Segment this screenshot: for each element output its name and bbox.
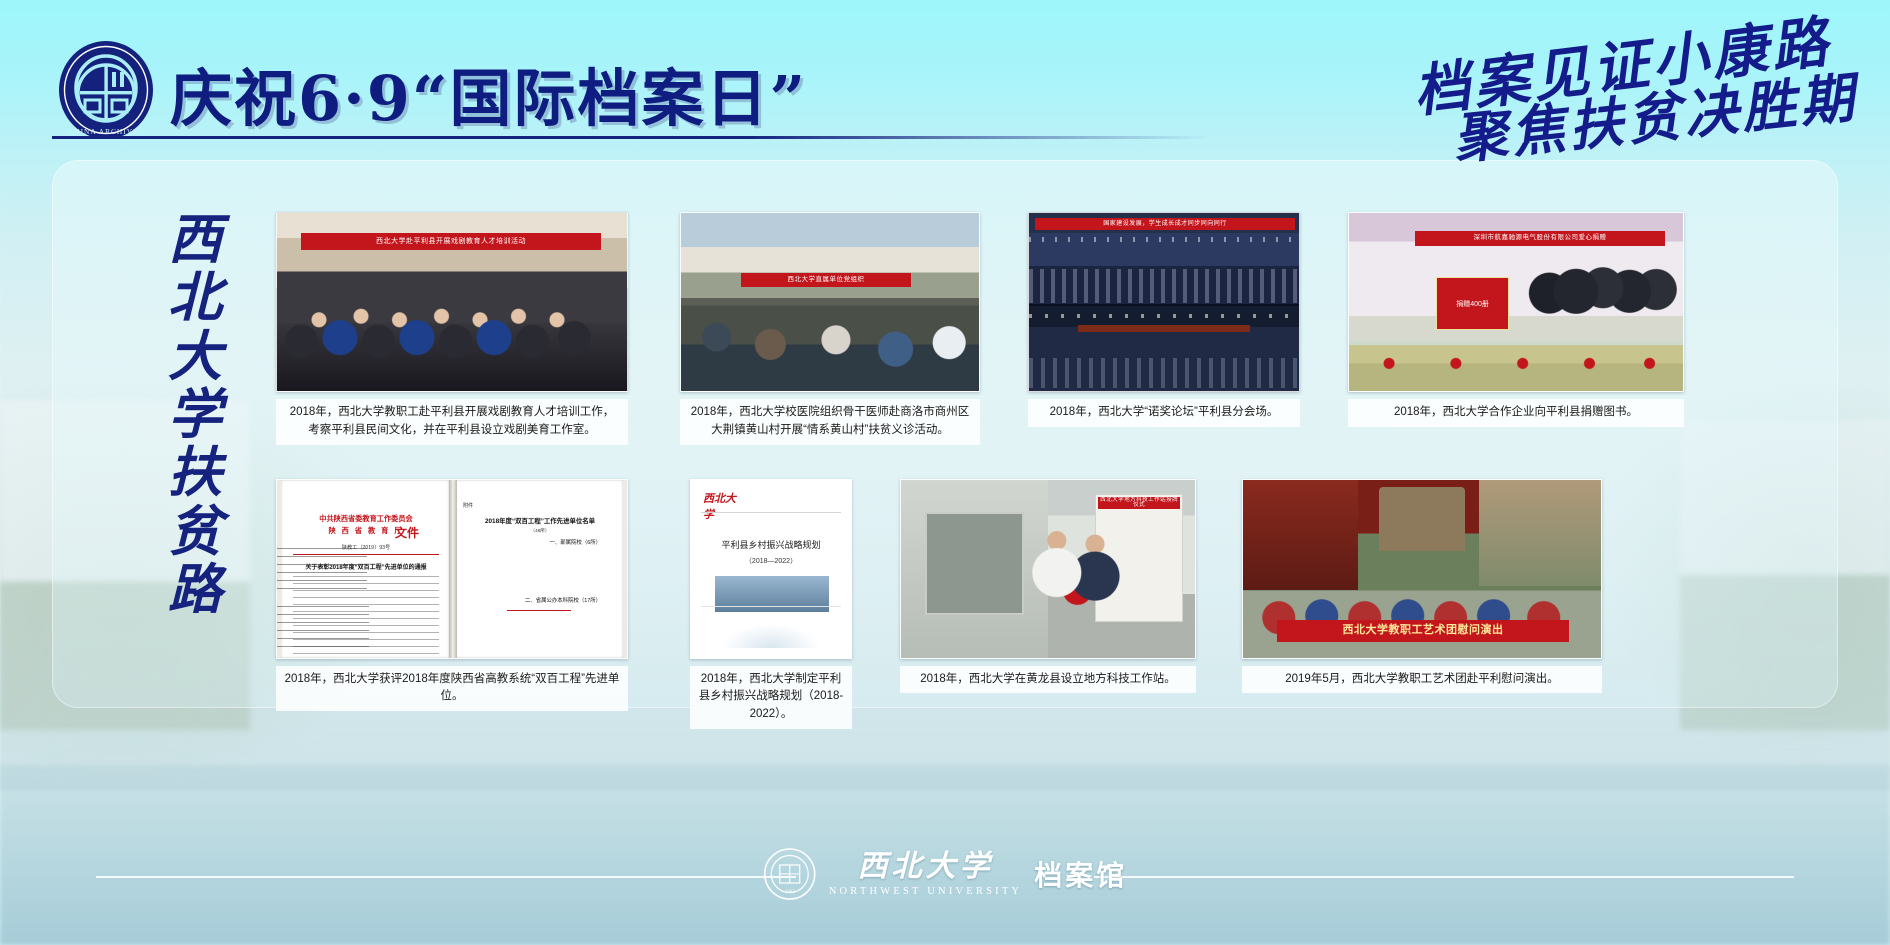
donation-plaque: 捐赠400册 <box>1436 277 1509 330</box>
gallery-card-art-performance[interactable]: 西北大学教职工艺术团慰问演出 2019年5月，西北大学教职工艺术团赴平利慰问演出… <box>1242 479 1602 694</box>
nwu-wordmark-en: NORTHWEST UNIVERSITY <box>829 886 1023 897</box>
nwu-wordmark-cn: 西北大学 <box>857 852 993 882</box>
vtitle-char-4: 扶 <box>140 443 250 501</box>
science-tech-station-photo: 西北大学地方科技工作站授牌仪式 <box>900 479 1196 659</box>
gallery-caption: 2018年，西北大学校医院组织骨干医师赴商洛市商州区大荆镇黄山村开展“情系黄山村… <box>680 399 980 445</box>
vtitle-char-6: 路 <box>140 560 250 618</box>
vtitle-char-2: 大 <box>140 327 250 385</box>
photo-banner-text: 西北大学教职工艺术团慰问演出 <box>1277 620 1569 642</box>
cover-title: 平利县乡村振兴战略规划 <box>701 538 841 551</box>
footer-rule-right <box>1094 876 1794 878</box>
gallery-caption: 2018年，西北大学获评2018年度陕西省高教系统“双百工程”先进单位。 <box>276 666 628 712</box>
photo-banner-text: 西北大学直属单位党组织 <box>741 273 911 287</box>
gallery-card-nobel-forum[interactable]: 国家建设发展，学生成长成才同步同向同行 2018年，西北大学“诺奖论坛”平利县分… <box>1028 212 1300 427</box>
book-donation-photo: 深圳市航嘉驰源电气股份有限公司爱心捐赠 捐赠400册 <box>1348 212 1684 392</box>
gallery-card-drama-training[interactable]: 西北大学赴平利县开展戏剧教育人才培训活动 2018年，西北大学教职工赴平利县开展… <box>276 212 628 445</box>
gallery-caption: 2019年5月，西北大学教职工艺术团赴平利慰问演出。 <box>1242 666 1602 694</box>
doc-right-title: 2018年度“双百工程”工作先进单位名单 <box>461 516 619 525</box>
china-archives-logo-icon: CHINA ARCHIVES <box>54 38 158 142</box>
rural-revitalization-plan-cover: 西北大学 平利县乡村振兴战略规划 （2018—2022） <box>690 479 852 659</box>
page-title: 庆祝6·9“国际档案日” <box>170 48 807 138</box>
gallery-card-rural-plan[interactable]: 西北大学 平利县乡村振兴战略规划 （2018—2022） 2018年，西北大学制… <box>690 479 852 729</box>
gallery-row-2: 中共陕西省委教育工作委员会 陕 西 省 教 育 厅 文件 陕教工〔2019〕93… <box>276 479 1856 729</box>
double-hundred-award-document: 中共陕西省委教育工作委员会 陕 西 省 教 育 厅 文件 陕教工〔2019〕93… <box>276 479 628 659</box>
gallery-caption: 2018年，西北大学在黄龙县设立地方科技工作站。 <box>900 666 1196 694</box>
gallery-card-book-donation[interactable]: 深圳市航嘉驰源电气股份有限公司爱心捐赠 捐赠400册 2018年，西北大学合作企… <box>1348 212 1684 427</box>
drama-training-photo: 西北大学赴平利县开展戏剧教育人才培训活动 <box>276 212 628 392</box>
doc-title-line-1: 中共陕西省委教育工作委员会 <box>293 514 439 524</box>
vtitle-char-1: 北 <box>140 268 250 326</box>
cover-years: （2018—2022） <box>701 556 841 566</box>
doc-right-group-1: 一、部属院校（6所） <box>549 538 601 546</box>
seal-year-text: 1902 <box>785 890 796 895</box>
exhibit-vertical-title: 西 北 大 学 扶 贫 路 <box>140 210 250 618</box>
gallery-caption: 2018年，西北大学合作企业向平利县捐赠图书。 <box>1348 399 1684 427</box>
northwest-university-seal-icon: 1902 <box>763 847 817 901</box>
nwu-cover-logo-icon: 西北大学 <box>703 490 743 508</box>
calligraphy-slogan: 档案见证小康路 聚焦扶贫决胜期 <box>1392 6 1872 151</box>
doc-right-note: （46所） <box>461 528 619 534</box>
gallery-caption: 2018年，西北大学教职工赴平利县开展戏剧教育人才培训工作，考察平利县民间文化，… <box>276 399 628 445</box>
gallery-caption: 2018年，西北大学制定平利县乡村振兴战略规划（2018-2022）。 <box>690 666 852 729</box>
poster-header: CHINA ARCHIVES 庆祝6·9“国际档案日” 档案见证小康路 聚焦扶贫… <box>0 0 1890 150</box>
logo-en-text: CHINA ARCHIVES <box>68 127 143 136</box>
doc-title-wenjian: 文件 <box>395 524 419 541</box>
nobel-forum-photo: 国家建设发展，学生成长成才同步同向同行 <box>1028 212 1300 392</box>
gallery-card-free-clinic[interactable]: 西北大学直属单位党组织 2018年，西北大学校医院组织骨干医师赴商洛市商州区大荆… <box>680 212 980 445</box>
archives-unit-label: 档案馆 <box>1034 854 1127 894</box>
vtitle-char-0: 西 <box>140 210 250 268</box>
gallery-caption: 2018年，西北大学“诺奖论坛”平利县分会场。 <box>1028 399 1300 427</box>
vtitle-char-3: 学 <box>140 385 250 443</box>
art-troupe-performance-photo: 西北大学教职工艺术团慰问演出 <box>1242 479 1602 659</box>
gallery-card-double-hundred-award[interactable]: 中共陕西省委教育工作委员会 陕 西 省 教 育 厅 文件 陕教工〔2019〕93… <box>276 479 628 712</box>
vtitle-char-5: 贫 <box>140 502 250 560</box>
footer-brand: 1902 西北大学 NORTHWEST UNIVERSITY 档案馆 <box>763 847 1128 901</box>
poster-footer: 1902 西北大学 NORTHWEST UNIVERSITY 档案馆 <box>0 847 1890 907</box>
photo-gallery: 西北大学赴平利县开展戏剧教育人才培训活动 2018年，西北大学教职工赴平利县开展… <box>276 212 1856 729</box>
header-divider <box>52 136 1212 139</box>
footer-rule-left <box>96 876 796 878</box>
gallery-card-tech-station[interactable]: 西北大学地方科技工作站授牌仪式 2018年，西北大学在黄龙县设立地方科技工作站。 <box>900 479 1196 694</box>
doc-right-group-2: 二、省属公办本科院校（17所） <box>525 596 601 604</box>
gallery-row-1: 西北大学赴平利县开展戏剧教育人才培训活动 2018年，西北大学教职工赴平利县开展… <box>276 212 1856 445</box>
free-clinic-photo: 西北大学直属单位党组织 <box>680 212 980 392</box>
